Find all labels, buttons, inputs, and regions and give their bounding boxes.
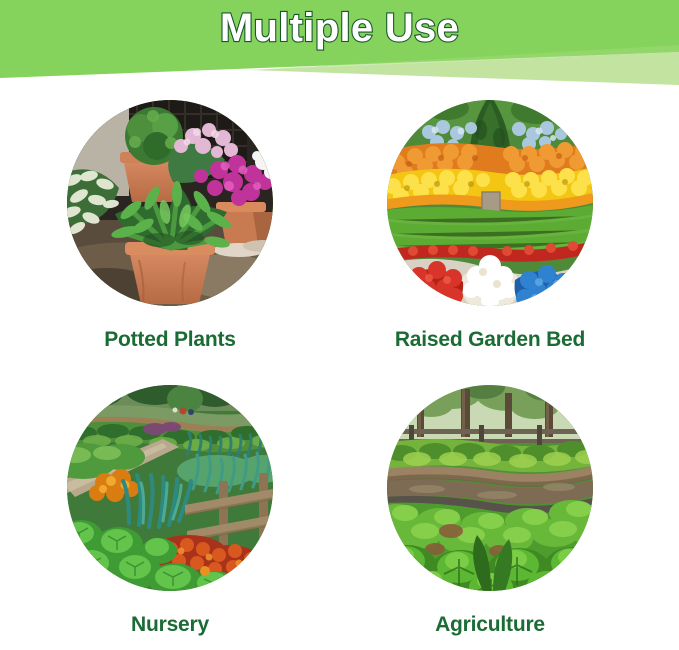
agriculture-photo: [387, 385, 593, 591]
card-label-nursery: Nursery: [10, 613, 330, 637]
card-label-potted-plants: Potted Plants: [10, 328, 330, 352]
potted-plants-photo: [67, 100, 273, 306]
use-case-card-agriculture[interactable]: Agriculture: [330, 385, 650, 637]
use-case-card-raised-garden-bed[interactable]: Raised Garden Bed: [330, 100, 650, 352]
nursery-photo: [67, 385, 273, 591]
raised-garden-bed-illustration: [387, 100, 593, 306]
card-label-agriculture: Agriculture: [330, 613, 650, 637]
header-banner: Multiple Use: [0, 0, 679, 92]
use-case-grid: Potted Plants: [0, 92, 679, 650]
use-case-card-potted-plants[interactable]: Potted Plants: [10, 100, 330, 352]
potted-plants-illustration: [67, 100, 273, 306]
card-label-raised-garden-bed: Raised Garden Bed: [330, 328, 650, 352]
agriculture-illustration: [387, 385, 593, 591]
use-case-card-nursery[interactable]: Nursery: [10, 385, 330, 637]
multiple-use-infographic: Multiple Use: [0, 0, 679, 650]
raised-garden-bed-photo: [387, 100, 593, 306]
page-title: Multiple Use: [0, 6, 679, 51]
nursery-illustration: [67, 385, 273, 591]
